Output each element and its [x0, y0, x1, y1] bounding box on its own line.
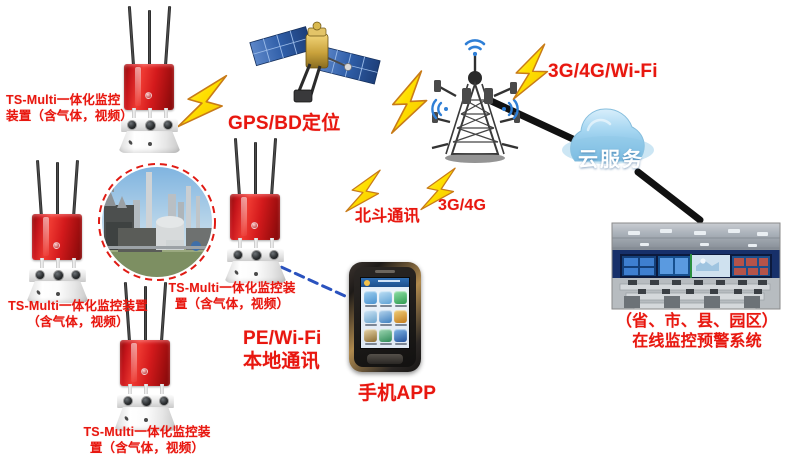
- label-3g4g-wifi: 3G/4G/Wi-Fi: [548, 60, 658, 84]
- device-red-housing: [230, 194, 280, 240]
- satellite-icon: [250, 22, 380, 102]
- antenna: [72, 160, 79, 218]
- camera-lens: [251, 250, 262, 261]
- label-device-bottom: TS-Multi一体化监控装 置（含气体，视频）: [82, 424, 212, 456]
- app-tile[interactable]: [364, 348, 377, 349]
- device-logo: [251, 222, 258, 229]
- antenna: [56, 162, 59, 218]
- label-beidou: 北斗通讯: [355, 207, 420, 227]
- antenna: [128, 6, 135, 68]
- camera-lens: [35, 270, 45, 280]
- phone-app-title: [378, 280, 400, 282]
- industrial-plant-photo: [99, 164, 215, 280]
- app-tile[interactable]: [364, 329, 377, 345]
- app-tile[interactable]: [379, 291, 392, 307]
- label-device-mid-center: TS-Multi一体化监控装 置（含气体，视频）: [168, 280, 296, 312]
- app-tile[interactable]: [379, 329, 392, 345]
- app-tile[interactable]: [364, 291, 377, 307]
- label-cloud-service: 云服务: [578, 143, 644, 172]
- app-tile[interactable]: [364, 310, 377, 326]
- camera-lens: [53, 270, 64, 281]
- antenna: [234, 138, 241, 198]
- app-tile[interactable]: [394, 329, 407, 345]
- camera-lens: [159, 396, 169, 406]
- monitoring-center-photo: [612, 223, 780, 309]
- label-device-mid-left: TS-Multi一体化监控装置 （含气体，视频）: [2, 298, 154, 330]
- camera-lens: [141, 396, 152, 407]
- monitoring-device-mid-left: [20, 160, 98, 300]
- monitoring-device-top-left: [112, 6, 190, 146]
- label-monitor-center: （省、市、县、园区） 在线监控预警系统: [604, 312, 790, 352]
- sensor-port: [148, 142, 152, 146]
- phone-keypad[interactable]: [367, 354, 403, 364]
- antenna: [254, 142, 257, 198]
- handheld-pda-icon[interactable]: [349, 262, 421, 372]
- antenna: [164, 6, 171, 68]
- antenna: [36, 160, 43, 218]
- app-tile[interactable]: [379, 310, 392, 326]
- camera-lens: [123, 396, 133, 406]
- monitoring-device-mid-center: [218, 138, 296, 278]
- antenna: [160, 282, 167, 344]
- label-3g4g: 3G/4G: [438, 196, 486, 216]
- link-tower-to-cloud: [489, 100, 575, 140]
- camera-lens: [269, 250, 279, 260]
- phone-home-icon: [364, 280, 370, 286]
- antenna: [148, 10, 151, 68]
- device-red-housing: [32, 214, 82, 260]
- bolt-satellite-to-tower: [382, 71, 431, 133]
- wifi-signal-left: [432, 100, 448, 118]
- app-tile[interactable]: [379, 348, 392, 349]
- device-red-housing: [120, 340, 170, 386]
- wifi-signal-top: [466, 40, 484, 56]
- cell-tower-icon: [432, 40, 520, 163]
- sensor-port: [56, 292, 60, 296]
- phone-app-grid[interactable]: [364, 291, 406, 349]
- camera-lens: [233, 250, 243, 260]
- camera-lens: [71, 270, 81, 280]
- antenna: [270, 138, 277, 198]
- sensor-port: [144, 418, 148, 422]
- device-logo: [53, 242, 60, 249]
- label-pe-wifi: PE/Wi-Fi 本地通讯: [243, 327, 321, 373]
- link-cloud-to-control-room: [638, 172, 700, 220]
- phone-speaker: [375, 270, 395, 273]
- label-phone-app: 手机APP: [358, 382, 436, 406]
- app-tile[interactable]: [394, 310, 407, 326]
- camera-lens: [163, 120, 173, 130]
- label-gps-bd: GPS/BD定位: [228, 112, 340, 136]
- app-tile[interactable]: [394, 291, 407, 307]
- device-logo: [141, 368, 148, 375]
- label-device-top-left: TS-Multi一体化监控 装置（含气体，视频）: [6, 92, 156, 124]
- sensor-port: [254, 272, 258, 276]
- phone-screen[interactable]: [360, 277, 410, 349]
